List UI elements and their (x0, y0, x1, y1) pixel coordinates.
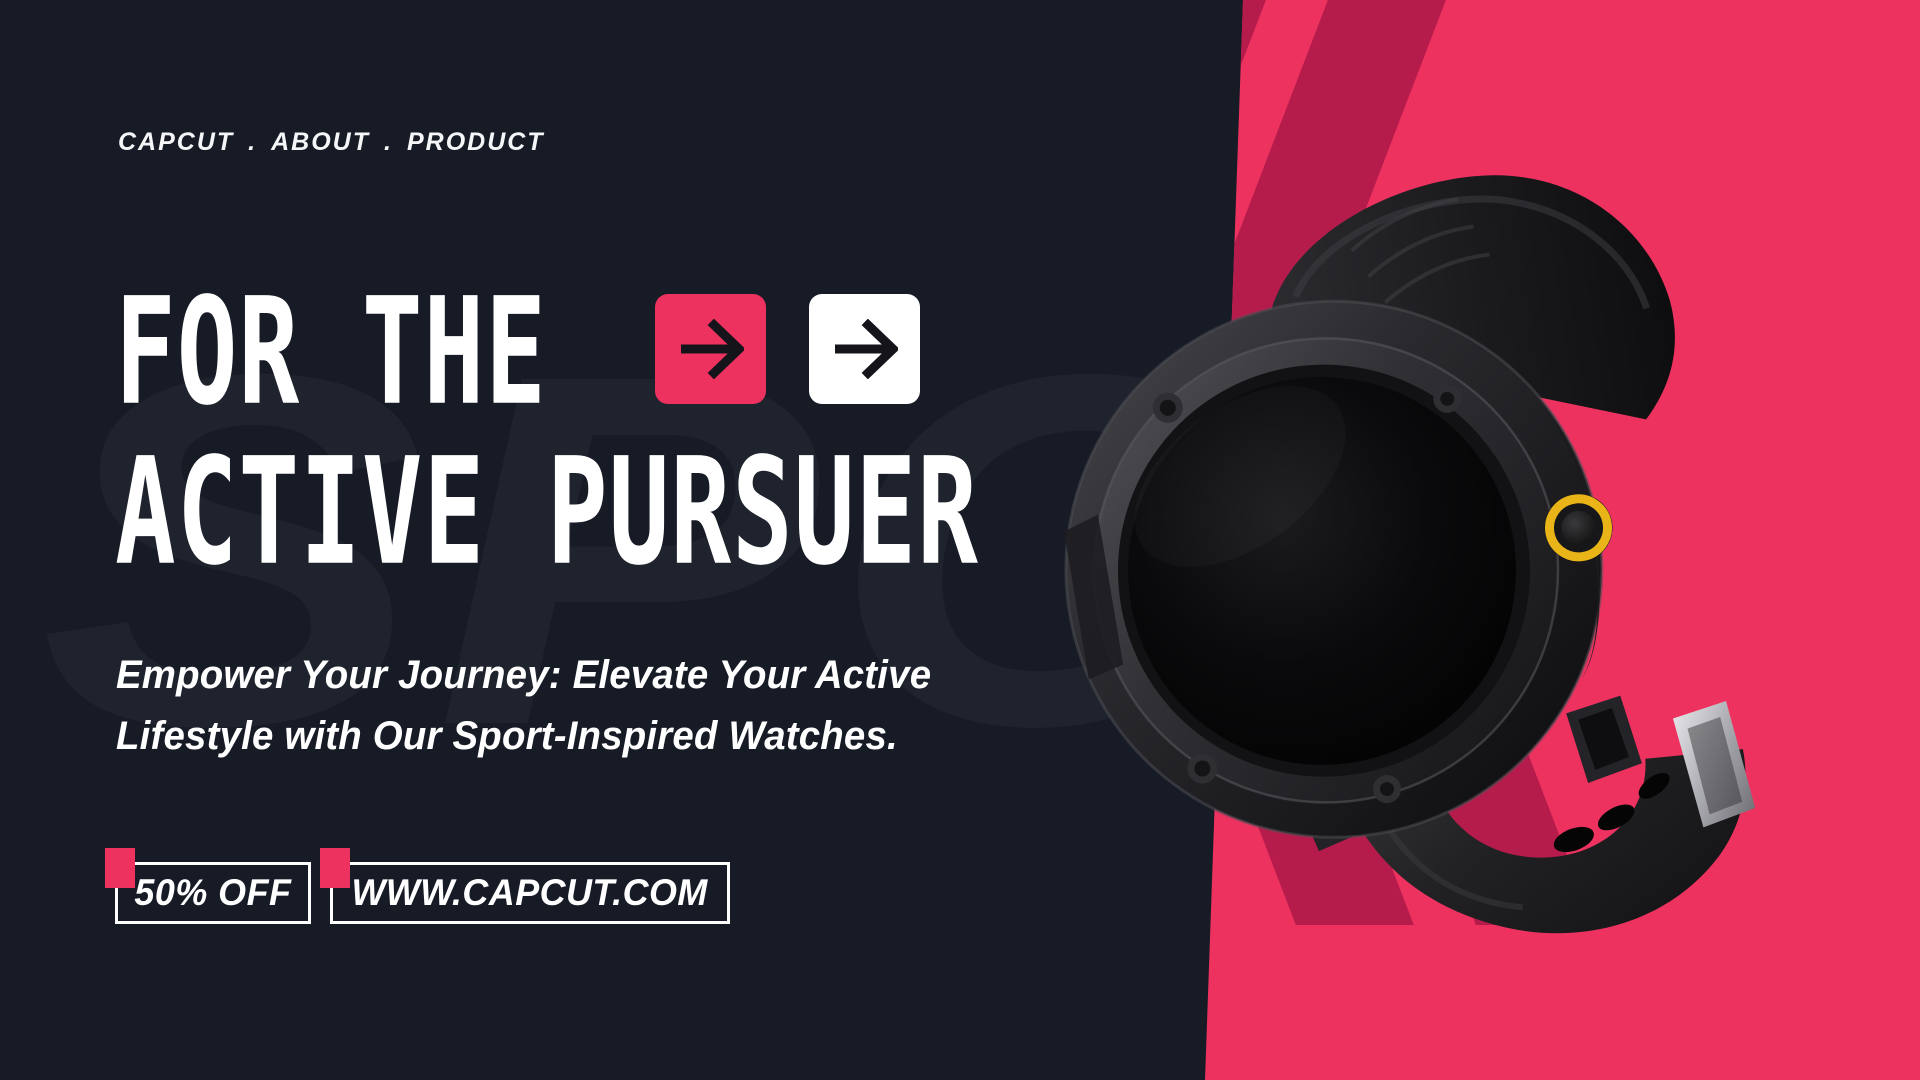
headline-line-2: ACTIVE PURSUER (115, 443, 1134, 582)
top-navigation: CAPCUT . ABOUT . PRODUCT (118, 128, 545, 157)
arrow-button-secondary[interactable] (809, 294, 920, 404)
website-badge[interactable]: WWW.CAPCUT.COM (330, 862, 730, 924)
arrow-button-primary[interactable] (655, 294, 766, 404)
arrow-right-icon (678, 319, 744, 379)
subtitle-line-1: Empower Your Journey: Elevate Your Activ… (116, 645, 980, 706)
nav-separator: . (370, 128, 407, 157)
nav-item-capcut[interactable]: CAPCUT (118, 128, 234, 157)
discount-badge-label: 50% OFF (135, 872, 292, 914)
headline-block: FOR THE (115, 300, 1165, 562)
subtitle-line-2: Lifestyle with Our Sport-Inspired Watche… (116, 706, 980, 767)
badge-group: 50% OFF WWW.CAPCUT.COM (115, 862, 730, 924)
nav-item-about[interactable]: ABOUT (271, 128, 370, 157)
arrow-button-group (655, 294, 920, 404)
nav-separator: . (234, 128, 271, 157)
subtitle-block: Empower Your Journey: Elevate Your Activ… (116, 645, 980, 767)
discount-badge-wrap: 50% OFF (115, 862, 311, 924)
corner-accent-square (105, 848, 135, 888)
website-badge-wrap: WWW.CAPCUT.COM (330, 862, 730, 924)
nav-item-product[interactable]: PRODUCT (407, 128, 545, 157)
promo-banner: SPO (0, 0, 1920, 1080)
website-badge-label: WWW.CAPCUT.COM (352, 872, 708, 914)
discount-badge[interactable]: 50% OFF (115, 862, 311, 924)
arrow-right-icon (832, 319, 898, 379)
headline-line-1: FOR THE (115, 284, 547, 423)
corner-accent-square (320, 848, 350, 888)
